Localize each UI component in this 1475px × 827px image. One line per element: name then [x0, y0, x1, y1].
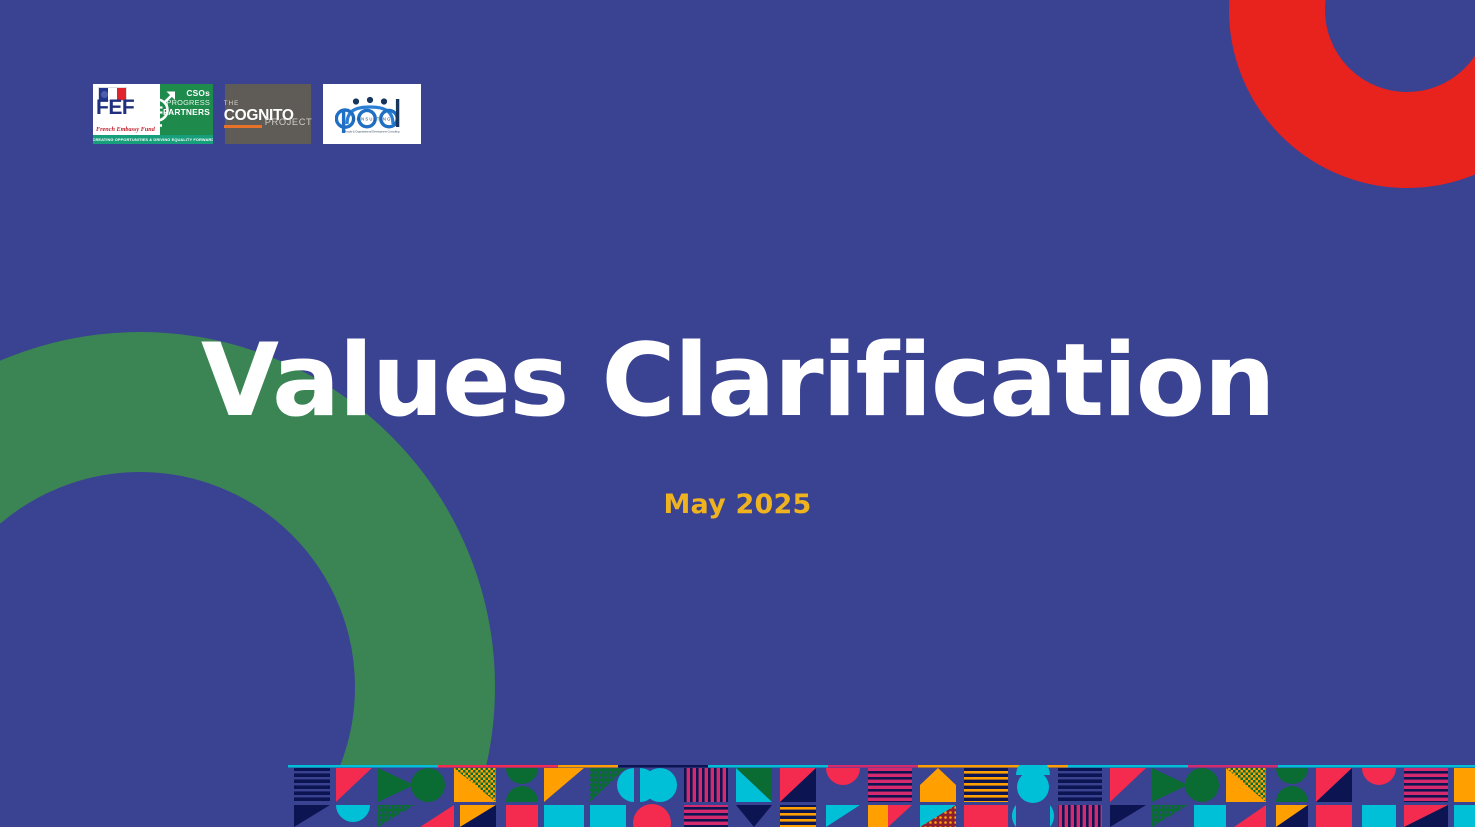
red-ring-decoration — [1229, 0, 1475, 188]
pod-consulting-logo: CONSULTING People & Organizational Devel… — [323, 84, 421, 144]
fef-tagline-bar: CREATING OPPORTUNITIES & DRIVING EQUALIT… — [93, 135, 213, 144]
fef-left-panel: FEF French Embassy Fund — [93, 84, 160, 135]
the-cognito-project-logo: THE COGNITO PROJECT — [225, 84, 311, 144]
cognito-the-label: THE — [224, 101, 313, 107]
fef-logo-body: FEF French Embassy Fund CSOs PROGRESS PA… — [93, 84, 213, 135]
fef-wordmark: FEF — [96, 97, 134, 118]
pod-wordmark-icon: CONSULTING People & Organizational Devel… — [335, 94, 409, 134]
fef-sub-label: French Embassy Fund — [96, 126, 155, 133]
fef-csos-progress-partners-logo: FEF French Embassy Fund CSOs PROGRESS PA… — [93, 84, 213, 144]
fef-tagline: CREATING OPPORTUNITIES & DRIVING EQUALIT… — [93, 137, 213, 142]
geometric-pattern-strip — [288, 765, 1475, 827]
cognito-inner: THE COGNITO PROJECT — [224, 101, 313, 128]
fef-right-panel: CSOs PROGRESS PARTNERS — [160, 84, 213, 135]
svg-text:People & Organizational Develo: People & Organizational Development Cons… — [345, 130, 401, 133]
pattern-tiles — [288, 765, 1475, 827]
fef-partners-label: PARTNERS — [163, 108, 210, 118]
svg-text:CONSULTING: CONSULTING — [352, 116, 391, 121]
fef-right-text: CSOs PROGRESS PARTNERS — [163, 89, 210, 118]
slide-date-subtitle: May 2025 — [0, 489, 1475, 520]
page-title: Values Clarification — [0, 330, 1475, 431]
cognito-project-label: PROJECT — [265, 118, 313, 127]
presentation-slide: FEF French Embassy Fund CSOs PROGRESS PA… — [0, 0, 1475, 827]
partner-logo-row: FEF French Embassy Fund CSOs PROGRESS PA… — [93, 84, 421, 144]
cognito-accent-rule — [224, 125, 262, 128]
